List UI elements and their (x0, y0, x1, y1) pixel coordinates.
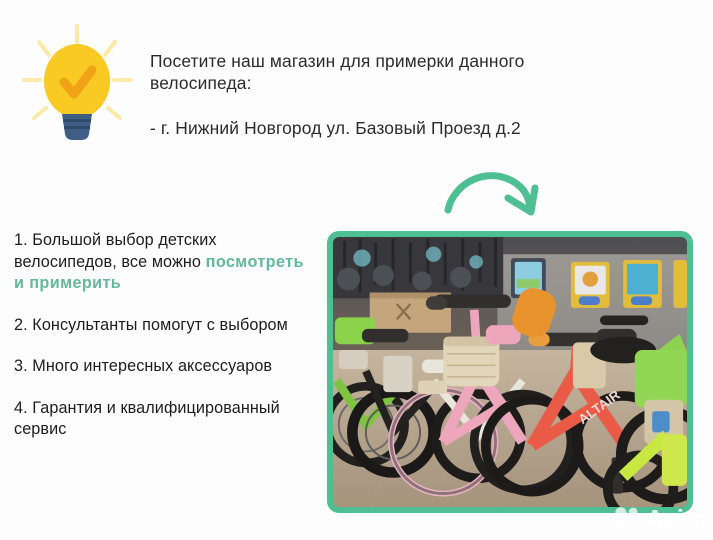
list-item: 2. Консультанты помогут с выбором (14, 315, 314, 337)
promo-page: Посетите наш магазин для примерки данног… (0, 0, 713, 540)
list-item: 3. Много интересных аксессуаров (14, 356, 314, 378)
visit-store-text: Посетите наш магазин для примерки данног… (150, 50, 630, 94)
benefit-3-text: 3. Много интересных аксессуаров (14, 357, 272, 375)
store-address-text: - г. Нижний Новгород ул. Базовый Проезд … (150, 117, 630, 139)
curved-arrow-down-right-icon (440, 162, 550, 224)
photo-image: ALTAIR (333, 237, 687, 507)
benefit-2-text: 2. Консультанты помогут с выбором (14, 316, 288, 334)
header-text-block: Посетите наш магазин для примерки данног… (150, 50, 630, 139)
benefit-4-text: 4. Гарантия и квалифицированный сервис (14, 399, 280, 439)
lightbulb-check-icon (18, 22, 136, 147)
benefits-list: 1. Большой выбор детских велосипедов, вс… (14, 230, 314, 441)
header-section: Посетите наш магазин для примерки данног… (0, 0, 713, 175)
list-item: 4. Гарантия и квалифицированный сервис (14, 398, 314, 441)
bike-shop-photo: ALTAIR (327, 231, 693, 513)
list-item: 1. Большой выбор детских велосипедов, вс… (14, 230, 314, 295)
benefit-1-text: 1. Большой выбор детских велосипедов, вс… (14, 231, 217, 271)
